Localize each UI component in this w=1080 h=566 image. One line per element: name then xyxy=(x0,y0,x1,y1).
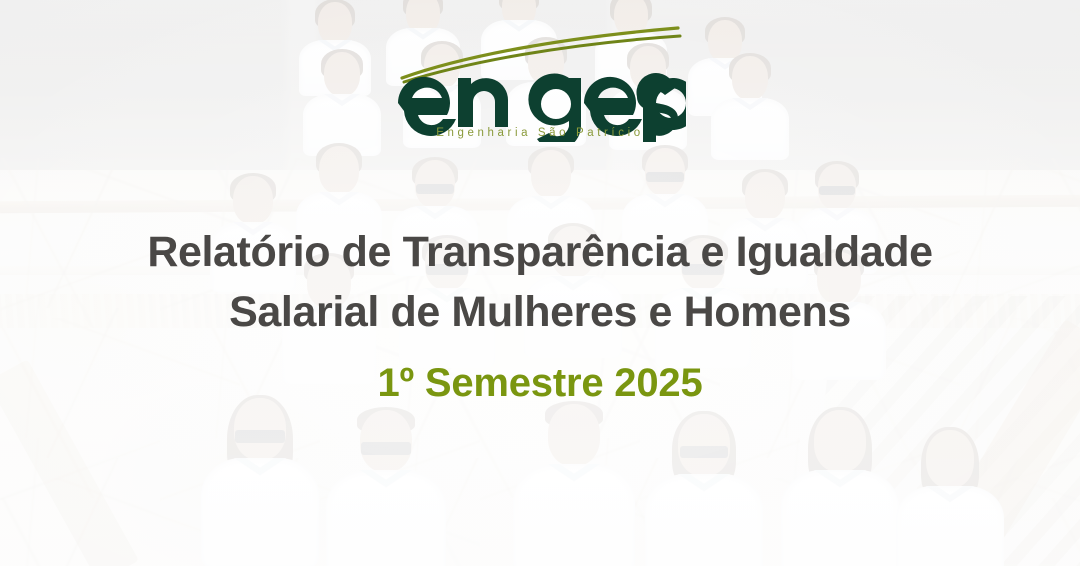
page-subtitle-period: 1º Semestre 2025 xyxy=(0,358,1080,408)
cover-headline-block: Relatório de Transparência e Igualdade S… xyxy=(0,222,1080,408)
page-title-line-1: Relatório de Transparência e Igualdade xyxy=(0,222,1080,282)
logo-tagline-text: Engenharia São Patrício xyxy=(436,127,643,139)
engesp-logo: Engenharia São Patrício xyxy=(394,26,686,142)
page-title-line-2: Salarial de Mulheres e Homens xyxy=(0,282,1080,342)
report-cover-slide: Engenharia São Patrício Relatório de Tra… xyxy=(0,0,1080,566)
